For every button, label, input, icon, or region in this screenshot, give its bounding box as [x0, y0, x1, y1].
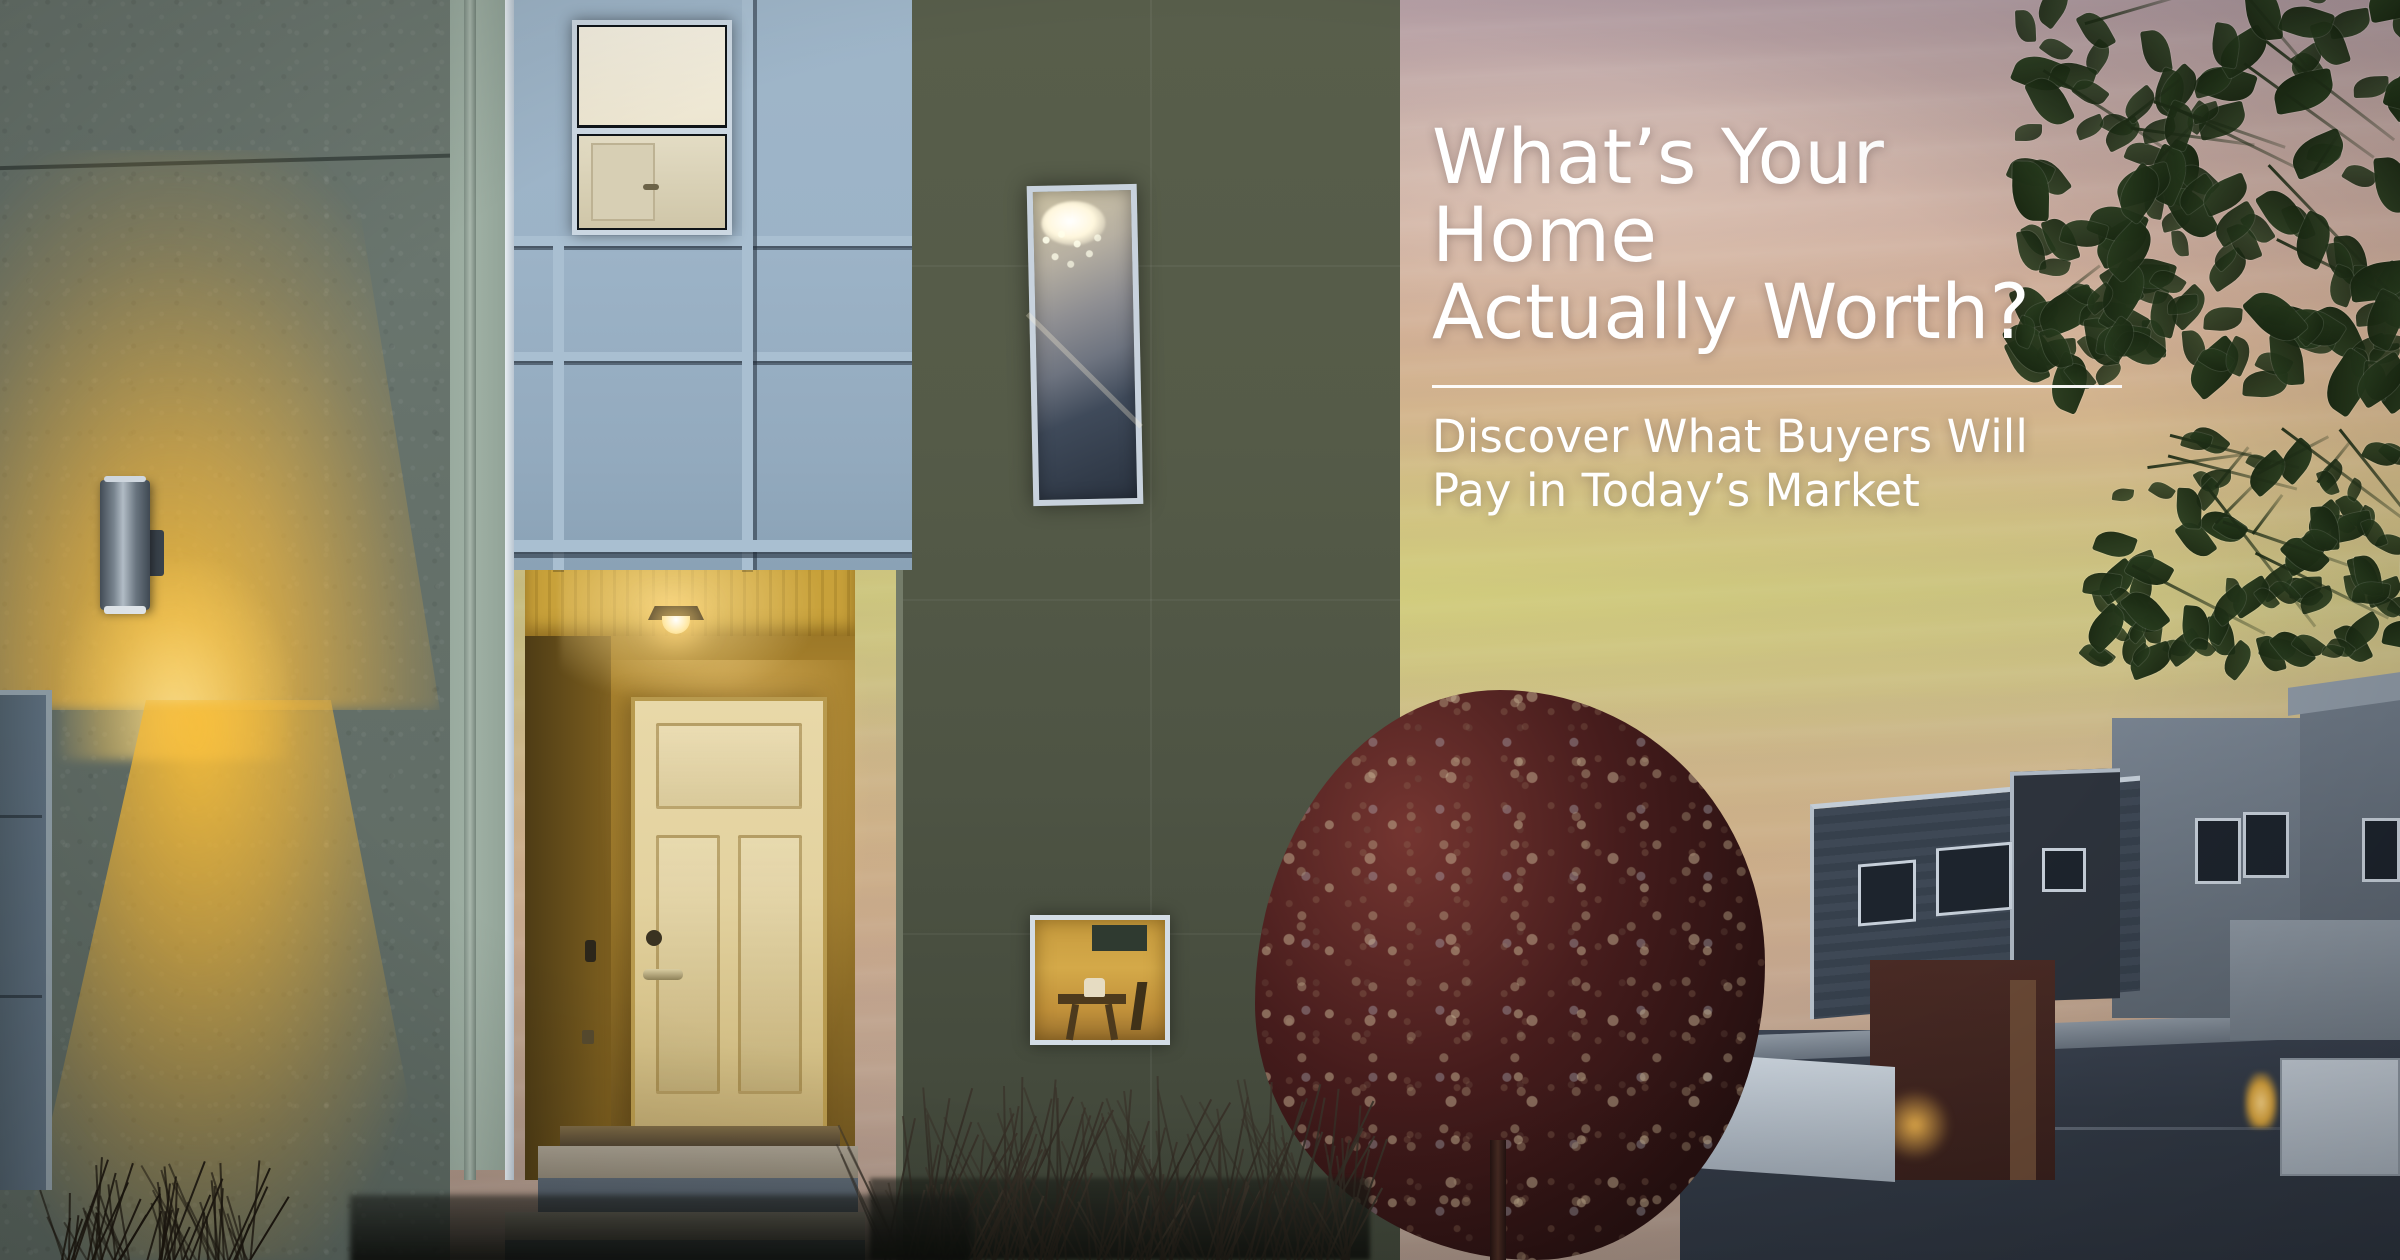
bay-trim — [512, 236, 912, 246]
neighbor-window — [1936, 842, 2012, 917]
interior-door-handle — [643, 184, 659, 190]
bay-sill — [512, 540, 912, 552]
bay-trim — [512, 352, 912, 361]
corner-trim — [505, 0, 514, 1180]
leaf — [2373, 156, 2400, 214]
page-title: What’s Your Home Actually Worth? — [1432, 118, 2132, 351]
neighbor-garage-door — [2280, 1058, 2400, 1176]
shrub-left — [60, 1150, 250, 1260]
leaf — [2203, 305, 2243, 332]
bay-shadow-line — [512, 552, 912, 558]
interior-table-leg — [1066, 1004, 1079, 1041]
window-roller-shade — [579, 27, 725, 125]
neighbor-window — [2362, 818, 2400, 882]
leaf — [2382, 615, 2400, 652]
interior-chair — [1130, 982, 1147, 1030]
bay-shadow-line — [753, 0, 757, 570]
headline-divider — [1432, 385, 2122, 388]
entry-door — [631, 697, 827, 1137]
leaf — [2171, 229, 2189, 257]
downspout — [464, 0, 476, 1180]
wall-sconce — [100, 480, 150, 610]
porch-ceiling-light — [648, 606, 704, 636]
light-bulb — [662, 616, 690, 634]
chandelier-crystals — [1036, 226, 1123, 284]
neighbor-window — [2195, 818, 2241, 884]
page-subtitle: Discover What Buyers Will Pay in Today’s… — [1432, 410, 2132, 520]
headline-block: What’s Your Home Actually Worth? Discove… — [1432, 118, 2132, 519]
leaf — [2075, 6, 2116, 53]
interior-door — [591, 143, 655, 221]
door-panel-left — [656, 835, 720, 1094]
leaf — [2016, 10, 2037, 42]
leaf — [2147, 477, 2175, 502]
bay-shadow-line — [512, 246, 912, 250]
leaf — [2361, 516, 2388, 549]
interior-tv — [1092, 925, 1147, 951]
neighbor-low-wall — [2230, 920, 2400, 1040]
ground-shadow — [350, 1195, 970, 1260]
neighbor-front-door — [2010, 980, 2036, 1180]
bay-shadow-line — [512, 361, 912, 365]
branch — [2252, 494, 2284, 535]
porch-step-upper — [538, 1146, 858, 1180]
interior-vase — [1084, 978, 1105, 997]
doorbell-button — [585, 940, 596, 962]
maple-trunk — [1490, 1140, 1506, 1260]
neighbor-window — [2243, 812, 2289, 878]
hero-banner: What’s Your Home Actually Worth? Discove… — [0, 0, 2400, 1260]
neighbor-porch-light — [2244, 1072, 2278, 1128]
door-threshold — [560, 1126, 840, 1148]
leaf — [2031, 0, 2076, 30]
upper-window — [572, 20, 732, 235]
interior-room-upper — [579, 136, 725, 228]
interior-table-leg — [1105, 1004, 1118, 1041]
bay-trim-vertical — [742, 0, 753, 570]
neighbor-window — [2042, 848, 2086, 892]
stairwell-rail — [1026, 312, 1143, 428]
window-mullion — [577, 128, 727, 134]
neighbor-window — [1858, 859, 1916, 926]
leaf — [2341, 159, 2378, 192]
door-panel-right — [738, 835, 802, 1094]
door-handle — [643, 969, 683, 980]
door-hardware — [582, 1030, 594, 1044]
neighbor-entry-door-left — [0, 690, 52, 1190]
stair-window — [1027, 184, 1144, 506]
room-window — [1030, 915, 1170, 1045]
bay-trim-vertical — [553, 236, 564, 570]
door-panel-top — [656, 723, 803, 809]
